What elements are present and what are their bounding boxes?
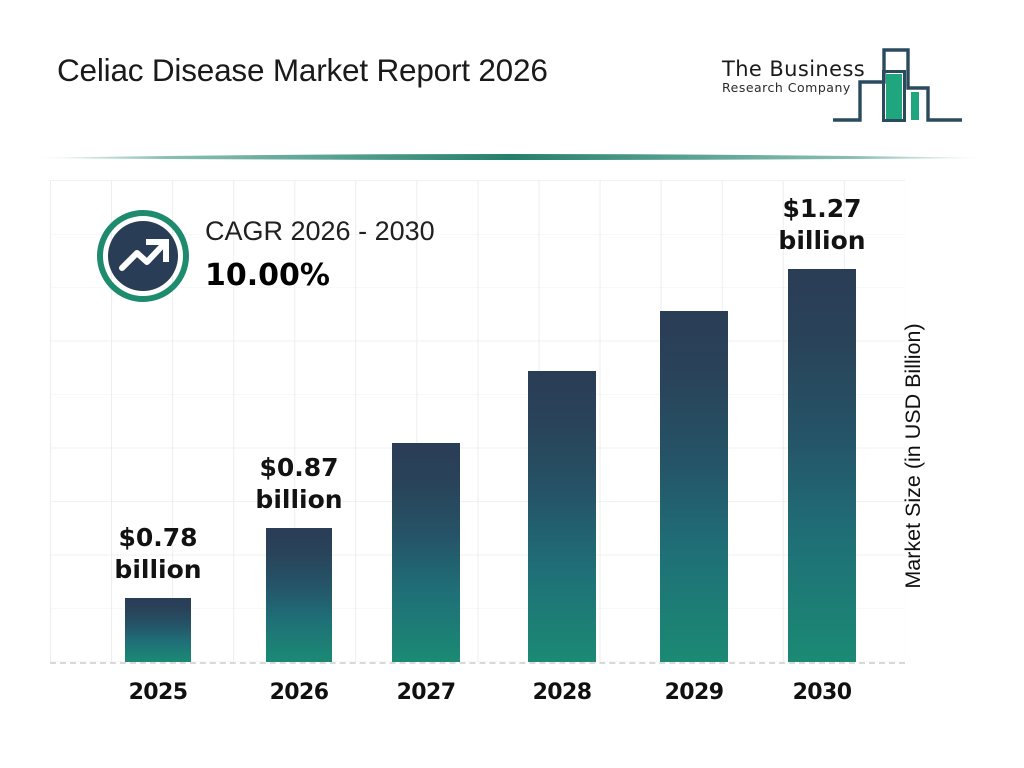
cagr-value-label: 10.00% xyxy=(205,258,330,293)
bar-value-label-2026-line2: billion xyxy=(255,484,342,516)
bar-value-label-2025-line1: $0.78 xyxy=(114,522,201,554)
trending-up-arrow-icon xyxy=(97,210,189,302)
x-tick-2025: 2025 xyxy=(118,680,198,705)
bar-value-label-2030: $1.27 billion xyxy=(778,193,865,257)
bar-value-label-2030-line1: $1.27 xyxy=(778,193,865,225)
bar-value-label-2025: $0.78 billion xyxy=(114,522,201,586)
bar-rect-2026[interactable] xyxy=(266,528,332,662)
y-axis-title: Market Size (in USD Billion) xyxy=(898,276,928,636)
bar-slot-2029[interactable] xyxy=(660,180,728,662)
bar-value-label-2026: $0.87 billion xyxy=(255,452,342,516)
x-tick-2027: 2027 xyxy=(386,680,466,705)
x-tick-2029: 2029 xyxy=(654,680,734,705)
bar-chart-logo-mark xyxy=(830,36,965,124)
bar-chart: $0.78 billion $0.87 billion xyxy=(0,150,1024,768)
x-axis: 2025 2026 2027 2028 2029 2030 xyxy=(50,662,905,710)
bar-rect-2027[interactable] xyxy=(392,443,460,662)
bar-value-label-2025-line2: billion xyxy=(114,554,201,586)
cagr-period-label: CAGR 2026 - 2030 xyxy=(205,216,435,247)
x-tick-2026: 2026 xyxy=(259,680,339,705)
bar-value-label-2026-line1: $0.87 xyxy=(255,452,342,484)
slide-header: Celiac Disease Market Report 2026 The Bu… xyxy=(0,0,1024,150)
bar-rect-2028[interactable] xyxy=(528,371,596,662)
bar-rect-2029[interactable] xyxy=(660,311,728,662)
page-title: Celiac Disease Market Report 2026 xyxy=(57,52,548,89)
bar-value-label-2030-line2: billion xyxy=(778,225,865,257)
bar-rect-2030[interactable] xyxy=(788,269,856,662)
bar-rect-2025[interactable] xyxy=(125,598,191,662)
cagr-badge: CAGR 2026 - 2030 10.00% xyxy=(97,210,517,315)
company-logo: The Business Research Company xyxy=(722,34,967,124)
bar-slot-2028[interactable] xyxy=(528,180,596,662)
x-tick-2028: 2028 xyxy=(522,680,602,705)
bar-slot-2030[interactable]: $1.27 billion xyxy=(788,180,856,662)
x-tick-2030: 2030 xyxy=(782,680,862,705)
slide-root: Celiac Disease Market Report 2026 The Bu… xyxy=(0,0,1024,768)
